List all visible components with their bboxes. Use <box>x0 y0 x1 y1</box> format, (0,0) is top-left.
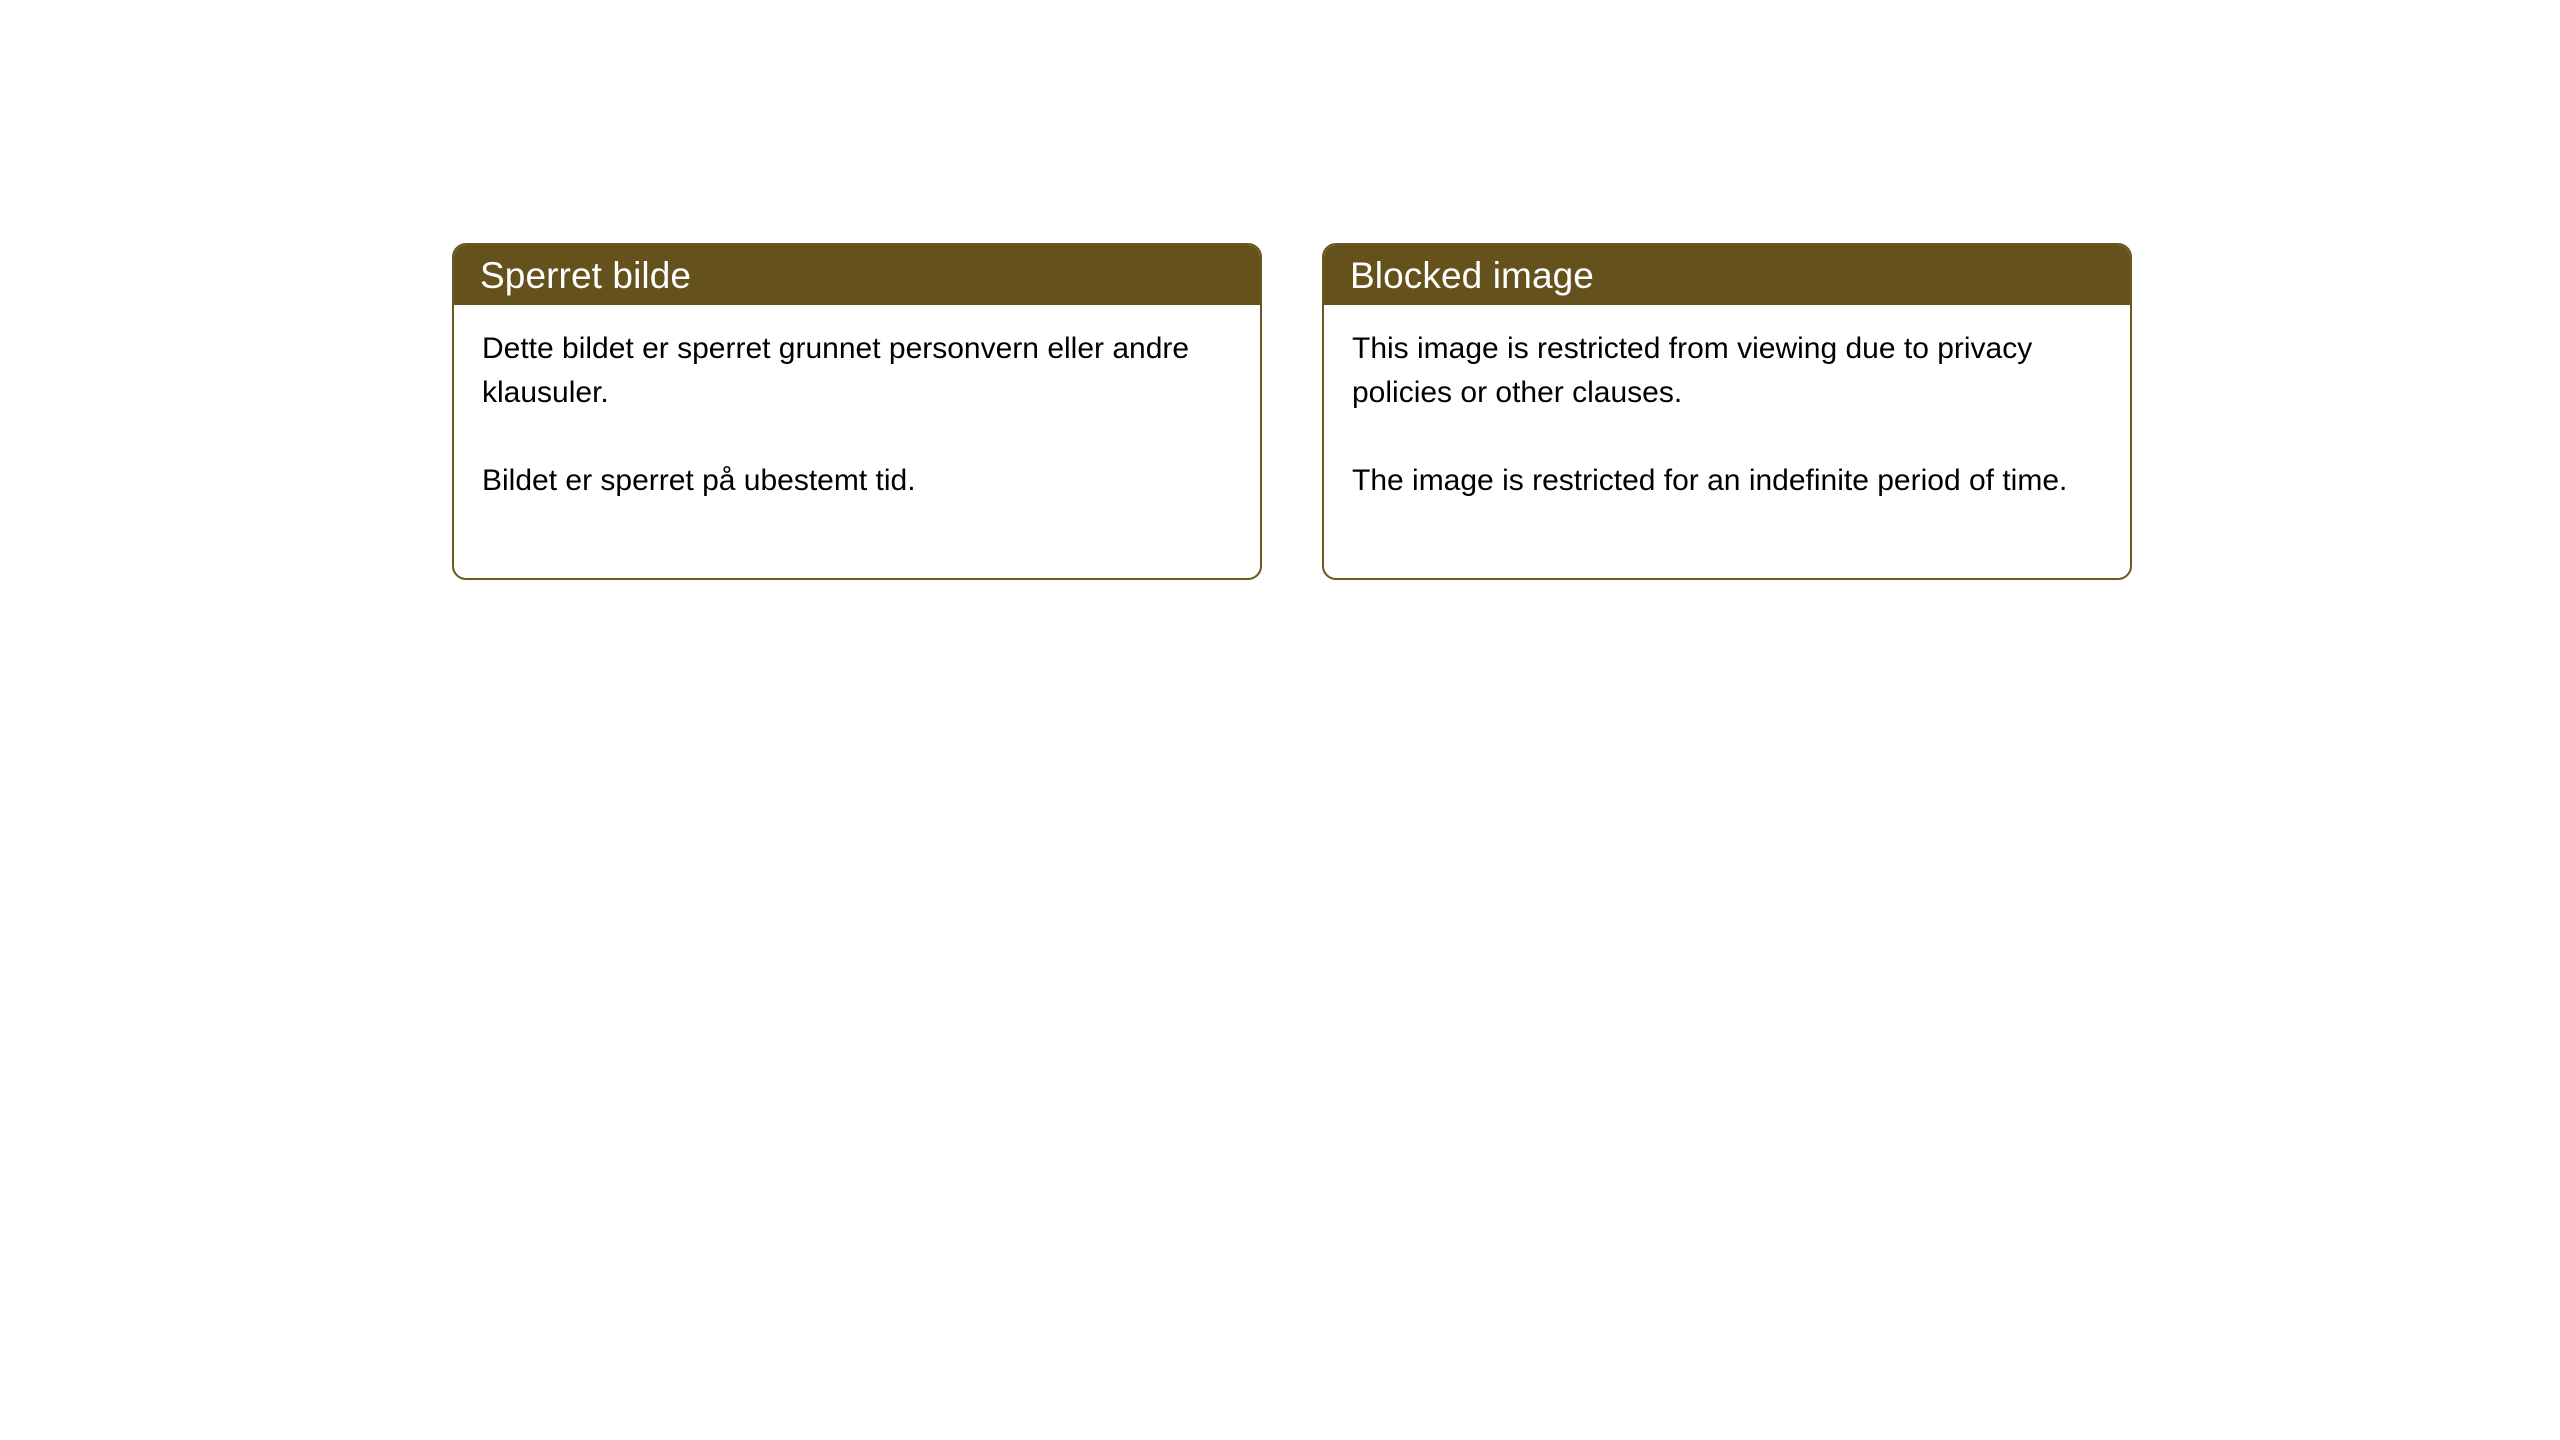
notice-cards-container: Sperret bilde Dette bildet er sperret gr… <box>452 243 2132 580</box>
card-title-norwegian: Sperret bilde <box>480 257 691 294</box>
card-paragraph-secondary-english: The image is restricted for an indefinit… <box>1352 459 2106 503</box>
blocked-image-card-english: Blocked image This image is restricted f… <box>1322 243 2132 580</box>
page-canvas: Sperret bilde Dette bildet er sperret gr… <box>0 0 2560 1440</box>
card-header-english: Blocked image <box>1324 245 2130 305</box>
card-title-english: Blocked image <box>1350 257 1594 294</box>
card-body-english: This image is restricted from viewing du… <box>1324 305 2130 578</box>
paragraph-spacer <box>1352 415 2106 459</box>
card-header-norwegian: Sperret bilde <box>454 245 1260 305</box>
card-paragraph-primary-norwegian: Dette bildet er sperret grunnet personve… <box>482 327 1236 415</box>
card-paragraph-primary-english: This image is restricted from viewing du… <box>1352 327 2106 415</box>
card-paragraph-secondary-norwegian: Bildet er sperret på ubestemt tid. <box>482 459 1236 503</box>
blocked-image-card-norwegian: Sperret bilde Dette bildet er sperret gr… <box>452 243 1262 580</box>
paragraph-spacer <box>482 415 1236 459</box>
card-body-norwegian: Dette bildet er sperret grunnet personve… <box>454 305 1260 578</box>
